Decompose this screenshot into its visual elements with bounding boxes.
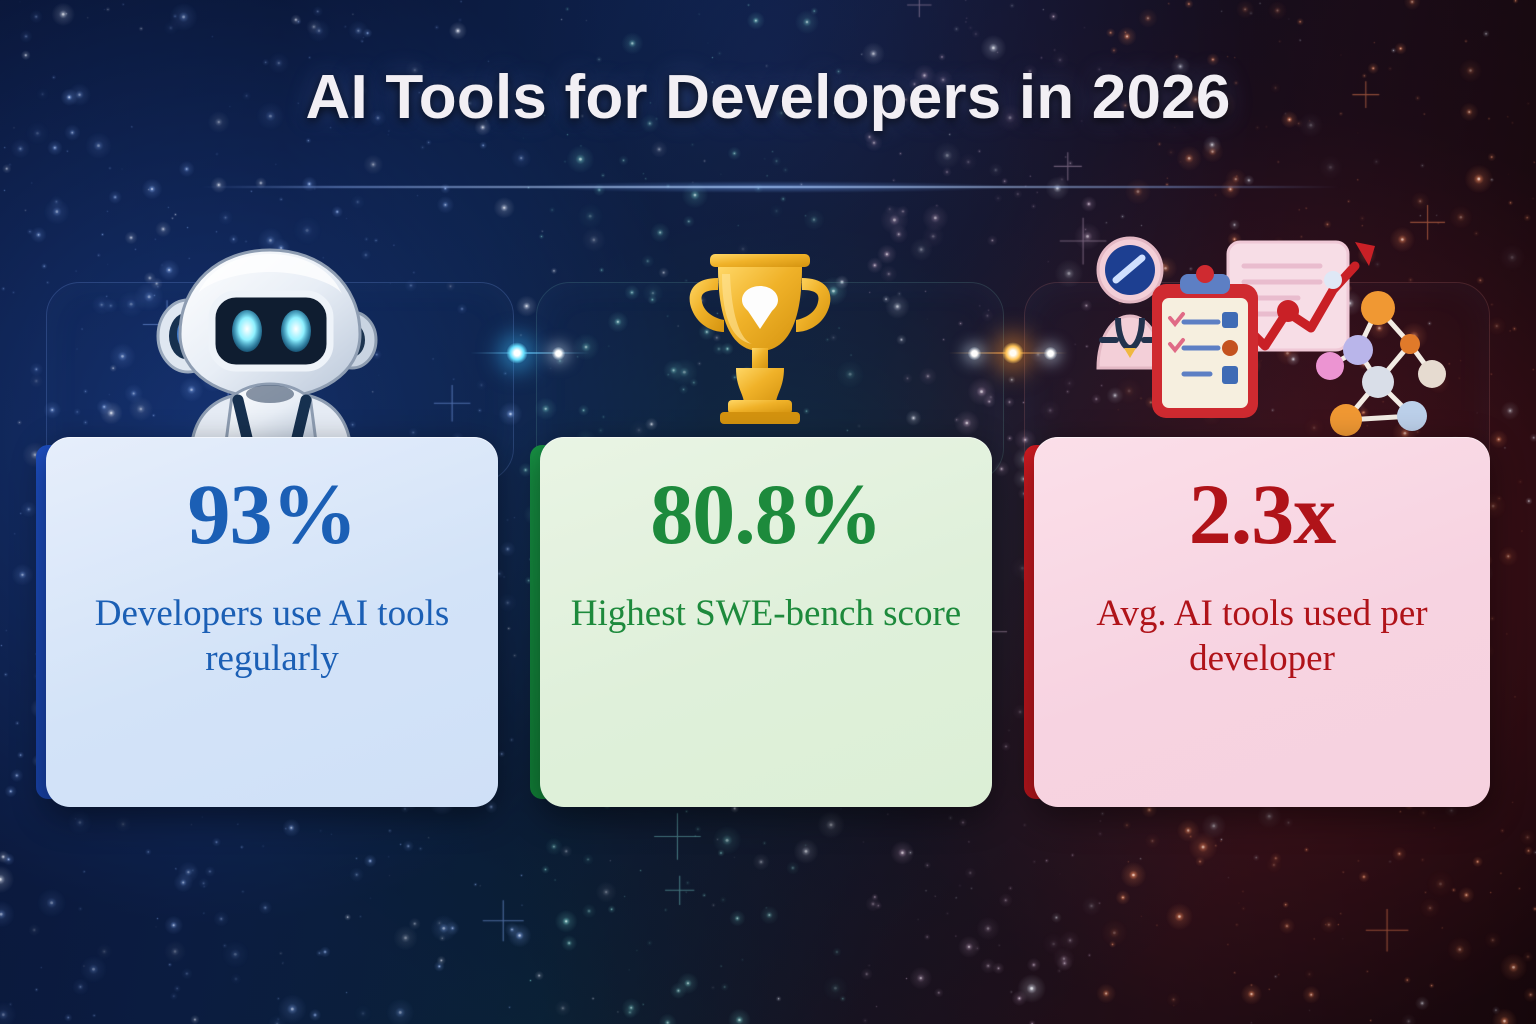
stat-value: 93% <box>188 471 357 557</box>
stat-label: Highest SWE-bench score <box>571 591 961 636</box>
stat-value: 80.8% <box>650 471 882 557</box>
infographic-canvas: AI Tools for Developers in 2026 <box>0 0 1536 1024</box>
page-title: AI Tools for Developers in 2026 <box>0 62 1536 133</box>
card-tools-per-dev[interactable]: 2.3x Avg. AI tools used per developer <box>1034 437 1490 807</box>
connector-node-cyan <box>506 342 528 364</box>
stat-card-row: 93% Developers use AI tools regularly 80… <box>46 437 1490 807</box>
title-divider <box>200 186 1340 188</box>
stat-label: Developers use AI tools regularly <box>68 591 476 681</box>
connector-node-amber <box>1002 342 1024 364</box>
card-panel-green: 80.8% Highest SWE-bench score <box>540 437 992 807</box>
card-panel-red: 2.3x Avg. AI tools used per developer <box>1034 437 1490 807</box>
card-swebench[interactable]: 80.8% Highest SWE-bench score <box>540 437 992 807</box>
connector-node-white-left <box>552 347 565 360</box>
card-panel-blue: 93% Developers use AI tools regularly <box>46 437 498 807</box>
connector-node-white-mid <box>968 347 981 360</box>
stat-label: Avg. AI tools used per developer <box>1056 591 1468 681</box>
connector-node-white-right <box>1044 347 1057 360</box>
card-developers[interactable]: 93% Developers use AI tools regularly <box>46 437 498 807</box>
stat-value: 2.3x <box>1189 471 1336 557</box>
